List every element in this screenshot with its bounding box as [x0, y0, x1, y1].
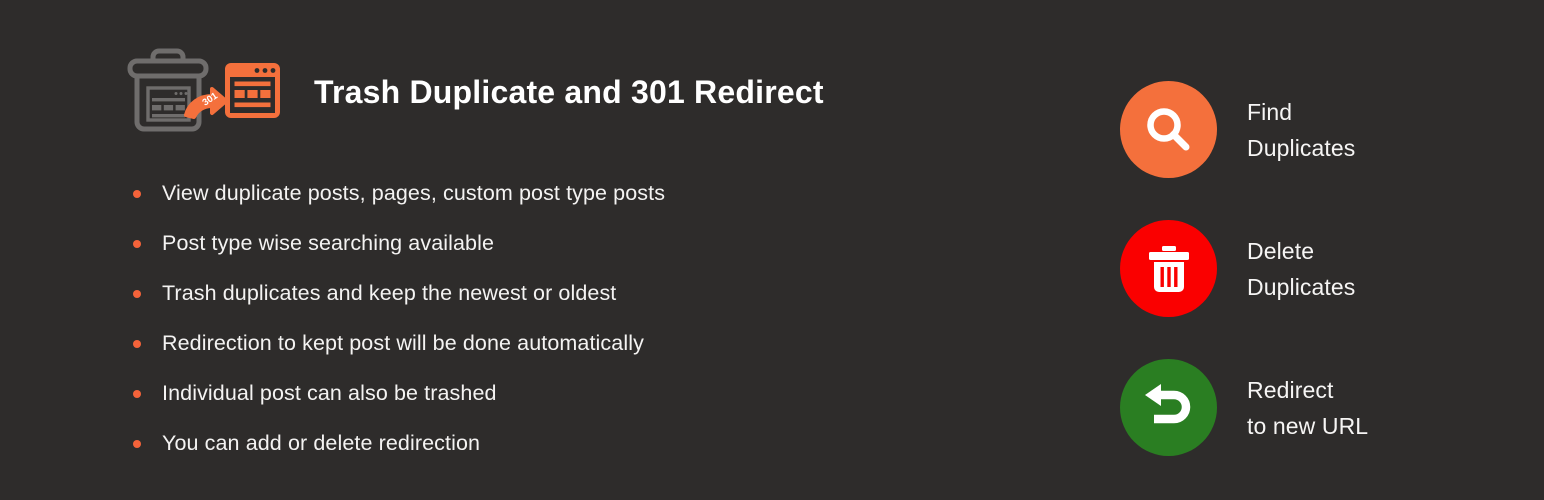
badge-label: Redirect to new URL — [1247, 372, 1368, 444]
list-item: Redirection to kept post will be done au… — [131, 319, 665, 369]
badge-redirect-new-url: Redirect to new URL — [1120, 338, 1544, 477]
badge-label-line2: Duplicates — [1247, 130, 1355, 166]
badge-label-line2: Duplicates — [1247, 269, 1355, 305]
badge-label: Delete Duplicates — [1247, 233, 1355, 305]
list-item: You can add or delete redirection — [131, 419, 665, 469]
badge-label-line2: to new URL — [1247, 408, 1368, 444]
undo-arrow-icon — [1141, 382, 1197, 434]
redirect-301-arrow-icon: 301 — [186, 89, 226, 117]
list-item-label: Redirection to kept post will be done au… — [162, 333, 644, 355]
list-item-label: View duplicate posts, pages, custom post… — [162, 183, 665, 205]
badge-label-line1: Find — [1247, 99, 1292, 125]
badge-label-line1: Redirect — [1247, 377, 1333, 403]
list-item: Post type wise searching available — [131, 219, 665, 269]
list-item-label: Post type wise searching available — [162, 233, 494, 255]
list-item: Individual post can also be trashed — [131, 369, 665, 419]
feature-badge-column: Find Duplicates Delete Duplicates — [1120, 60, 1544, 477]
badge-delete-duplicates: Delete Duplicates — [1120, 199, 1544, 338]
document-inside-trash-icon — [148, 88, 189, 120]
badge-label-line1: Delete — [1247, 238, 1314, 264]
badge-icon-circle-orange — [1120, 81, 1217, 178]
trash-icon — [1145, 243, 1193, 295]
bullet-dot-icon — [133, 290, 141, 298]
badge-icon-circle-green — [1120, 359, 1217, 456]
main-content-column: 301 — [0, 0, 1090, 500]
bullet-dot-icon — [133, 390, 141, 398]
bullet-dot-icon — [133, 340, 141, 348]
badge-label: Find Duplicates — [1247, 94, 1355, 166]
browser-window-icon — [225, 63, 280, 118]
feature-list: View duplicate posts, pages, custom post… — [131, 169, 665, 469]
list-item: View duplicate posts, pages, custom post… — [131, 169, 665, 219]
plugin-logo: 301 — [124, 44, 284, 136]
bullet-dot-icon — [133, 190, 141, 198]
list-item-label: Individual post can also be trashed — [162, 383, 497, 405]
promo-banner: 301 — [0, 0, 1544, 500]
list-item-label: You can add or delete redirection — [162, 433, 480, 455]
page-title: Trash Duplicate and 301 Redirect — [314, 76, 824, 108]
header-row: 301 — [124, 44, 824, 136]
bullet-dot-icon — [133, 240, 141, 248]
search-icon — [1143, 104, 1195, 156]
badge-icon-circle-red — [1120, 220, 1217, 317]
list-item-label: Trash duplicates and keep the newest or … — [162, 283, 616, 305]
badge-find-duplicates: Find Duplicates — [1120, 60, 1544, 199]
bullet-dot-icon — [133, 440, 141, 448]
list-item: Trash duplicates and keep the newest or … — [131, 269, 665, 319]
